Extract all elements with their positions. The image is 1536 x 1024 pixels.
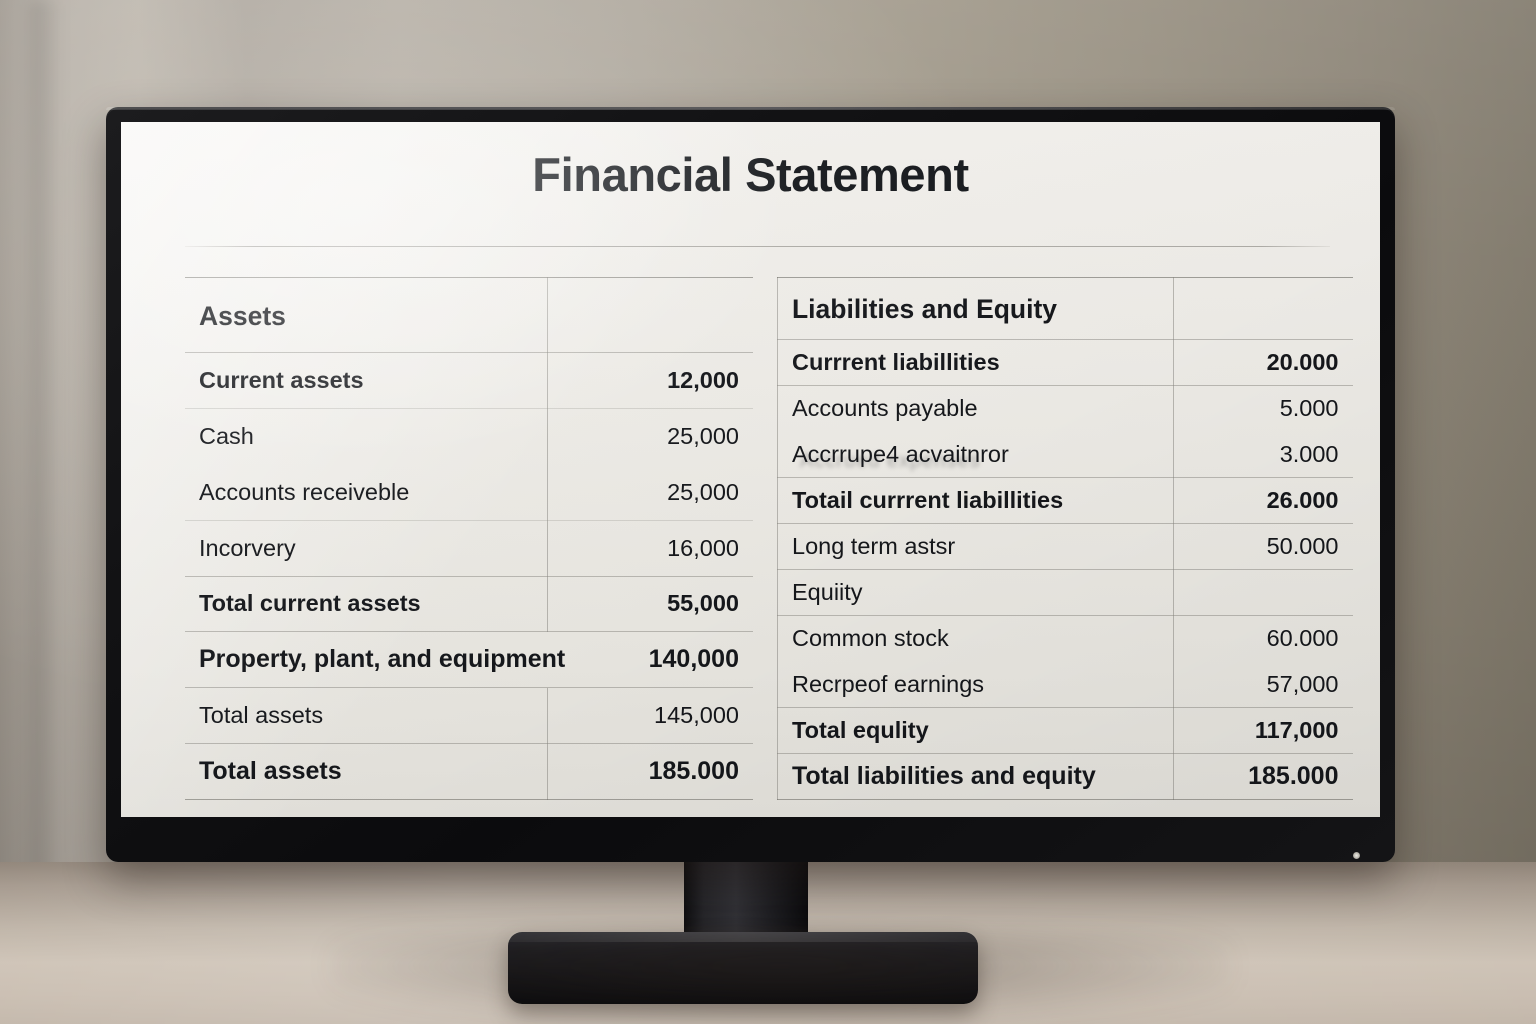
assets-header-row: Assets xyxy=(185,278,753,353)
wall-corner-edge xyxy=(30,0,64,880)
table-row: Totail currrent liabillities 26.000 xyxy=(778,478,1353,524)
row-label: Accounts receiveble xyxy=(185,464,547,520)
row-value: 3.000 xyxy=(1174,432,1353,478)
row-label: Common stock xyxy=(778,616,1174,662)
garbled-text: Accrued expenses Accrrupe4 acvaitnror xyxy=(792,441,1009,468)
monitor-screen: Financial Statement Assets Current a xyxy=(121,122,1380,817)
row-value: 185.000 xyxy=(1174,754,1353,800)
row-label: Accrued expenses Accrrupe4 acvaitnror xyxy=(778,432,1174,478)
table-row: Common stock 60.000 xyxy=(778,616,1353,662)
row-label: Property, plant, and equipment xyxy=(185,632,547,688)
table-row: Cash 25,000 xyxy=(185,409,753,465)
row-value: 25,000 xyxy=(547,409,753,465)
table-row: Current assets 12,000 xyxy=(185,353,753,409)
row-value: 185.000 xyxy=(547,744,753,800)
row-value: 60.000 xyxy=(1174,616,1353,662)
row-label: Total assets xyxy=(185,744,547,800)
statement-tables: Assets Current assets 12,000 Cash 25,000 xyxy=(121,277,1380,800)
row-label: Accounts payable xyxy=(778,386,1174,432)
table-row: Long term astsr 50.000 xyxy=(778,524,1353,570)
row-value: 57,000 xyxy=(1174,662,1353,708)
table-row: Total equlity 117,000 xyxy=(778,708,1353,754)
table-row: Equiity xyxy=(778,570,1353,616)
row-label: Cash xyxy=(185,409,547,465)
liabilities-header-value xyxy=(1174,278,1353,340)
table-row: Accounts payable 5.000 xyxy=(778,386,1353,432)
table-row-garbled: Accrued expenses Accrrupe4 acvaitnror 3.… xyxy=(778,432,1353,478)
table-row: Total current assets 55,000 xyxy=(185,576,753,632)
liabilities-header-label: Liabilities and Equity xyxy=(778,278,1174,340)
row-value: 12,000 xyxy=(547,353,753,409)
assets-table-body: Assets Current assets 12,000 Cash 25,000 xyxy=(185,278,753,800)
row-label: Recrpeof earnings xyxy=(778,662,1174,708)
table-row: Total liabilities and equity 185.000 xyxy=(778,754,1353,800)
power-led-indicator xyxy=(1353,852,1360,859)
table-row: Incorvery 16,000 xyxy=(185,520,753,576)
row-value: 55,000 xyxy=(547,576,753,632)
bezel-highlight xyxy=(106,107,1395,110)
garbled-visible-text: Accrrupe4 acvaitnror xyxy=(792,441,1009,467)
assets-header-label: Assets xyxy=(185,278,547,353)
row-label: Incorvery xyxy=(185,520,547,576)
liabilities-equity-table-body: Liabilities and Equity Currrent liabilli… xyxy=(778,278,1353,800)
desk-contact-shadow xyxy=(330,930,1230,1020)
scene-photo: Financial Statement Assets Current a xyxy=(0,0,1536,1024)
table-row: Property, plant, and equipment 140,000 xyxy=(185,632,753,688)
row-label: Current assets xyxy=(185,353,547,409)
row-label: Total equlity xyxy=(778,708,1174,754)
table-row: Total assets 185.000 xyxy=(185,744,753,800)
table-row: Recrpeof earnings 57,000 xyxy=(778,662,1353,708)
row-label: Equiity xyxy=(778,570,1174,616)
table-row: Accounts receiveble 25,000 xyxy=(185,464,753,520)
assets-header-value xyxy=(547,278,753,353)
monitor: Financial Statement Assets Current a xyxy=(106,107,1395,862)
row-value: 117,000 xyxy=(1174,708,1353,754)
row-value xyxy=(1174,570,1353,616)
assets-table: Assets Current assets 12,000 Cash 25,000 xyxy=(185,277,753,800)
row-value: 140,000 xyxy=(547,632,753,688)
table-row: Currrent liabillities 20.000 xyxy=(778,340,1353,386)
row-value: 20.000 xyxy=(1174,340,1353,386)
row-value: 26.000 xyxy=(1174,478,1353,524)
liabilities-equity-table: Liabilities and Equity Currrent liabilli… xyxy=(777,277,1353,800)
row-label: Long term astsr xyxy=(778,524,1174,570)
liabilities-header-row: Liabilities and Equity xyxy=(778,278,1353,340)
row-label: Totail currrent liabillities xyxy=(778,478,1174,524)
financial-statement-document: Financial Statement Assets Current a xyxy=(121,122,1380,817)
row-value: 16,000 xyxy=(547,520,753,576)
title-divider xyxy=(185,246,1330,247)
table-row: Total assets 145,000 xyxy=(185,688,753,744)
row-label: Total current assets xyxy=(185,576,547,632)
row-label: Total liabilities and equity xyxy=(778,754,1174,800)
row-value: 145,000 xyxy=(547,688,753,744)
row-value: 5.000 xyxy=(1174,386,1353,432)
row-label: Total assets xyxy=(185,688,547,744)
row-label: Currrent liabillities xyxy=(778,340,1174,386)
row-value: 25,000 xyxy=(547,464,753,520)
page-title: Financial Statement xyxy=(121,147,1380,202)
row-value: 50.000 xyxy=(1174,524,1353,570)
